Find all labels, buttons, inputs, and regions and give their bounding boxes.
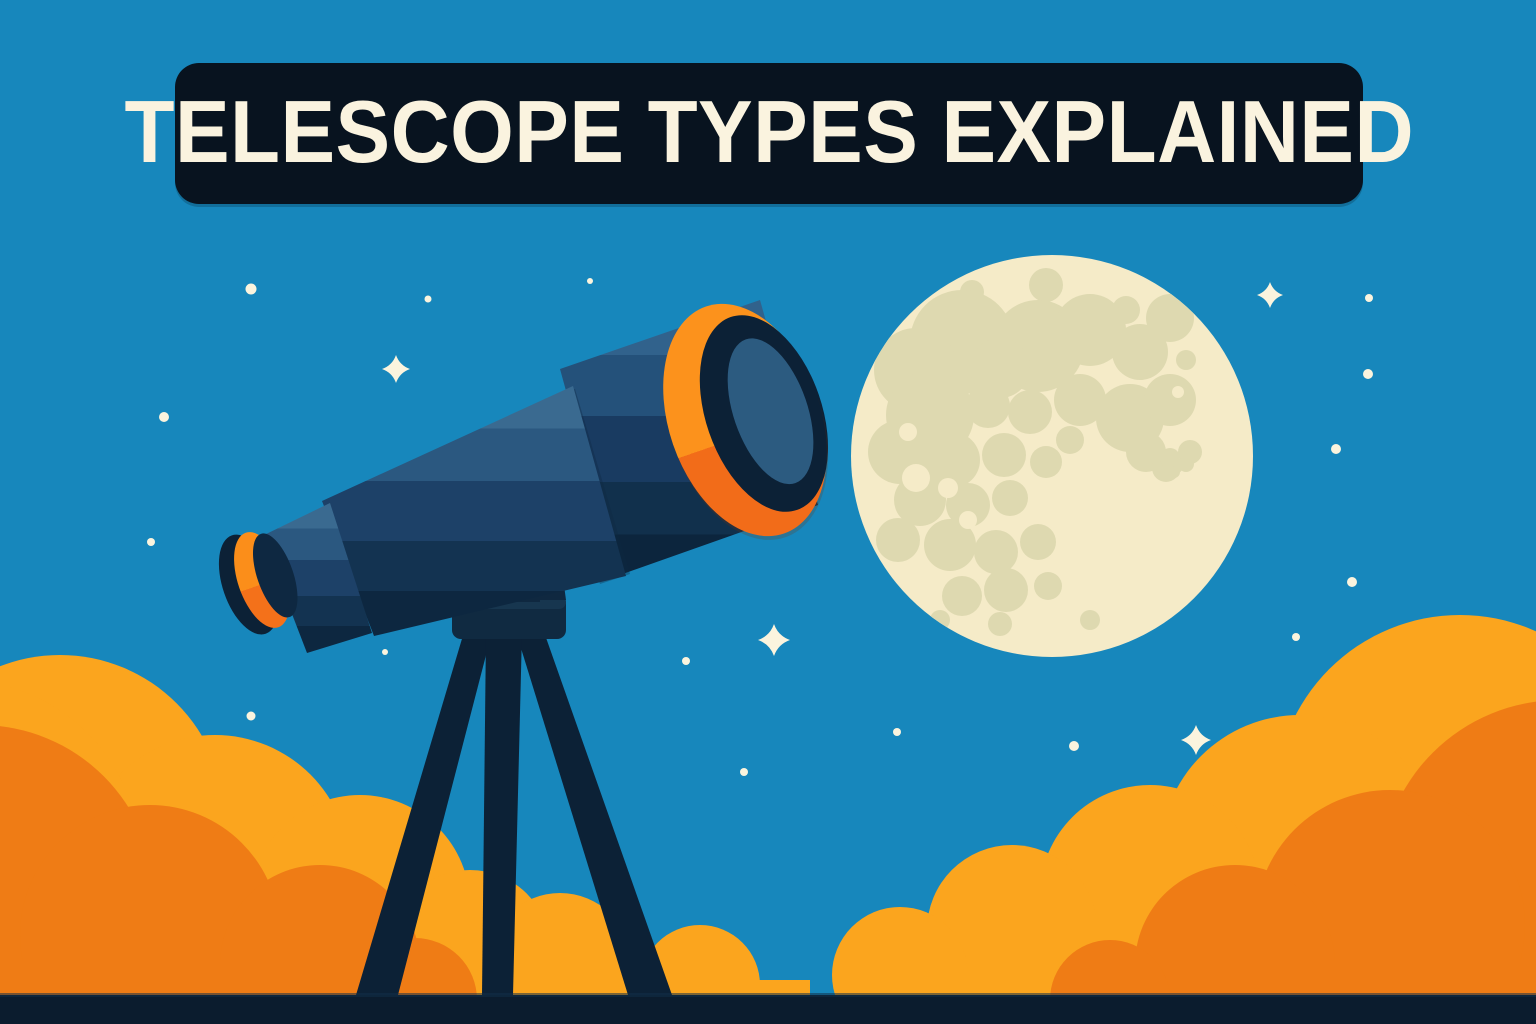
moon-crater [1008,390,1052,434]
moon-crater [876,518,920,562]
moon-crater [1080,610,1100,630]
star-dot [587,278,593,284]
moon-crater-highlight [1110,588,1130,608]
moon-crater [1034,572,1062,600]
moon-crater [982,433,1026,477]
star-dot [147,538,155,546]
moon-crater [1056,426,1084,454]
moon-crater [1030,446,1062,478]
star-dot [1292,633,1300,641]
page-title: TELESCOPE TYPES EXPLAINED [124,88,1414,176]
star-dot [382,649,388,655]
moon-crater [1029,268,1063,302]
moon-crater-highlight [899,423,917,441]
moon-crater [992,480,1028,516]
star-dot [246,284,257,295]
star-dot [1365,294,1373,302]
moon-crater [1160,448,1180,468]
poster-canvas: TELESCOPE TYPES EXPLAINED [0,0,1536,1024]
star-dot [425,296,432,303]
ground-strip [0,995,1536,1024]
title-banner: TELESCOPE TYPES EXPLAINED [175,63,1363,204]
star-dot [1069,741,1079,751]
moon-crater [1112,324,1168,380]
star-dot [247,712,256,721]
star-dot [1331,444,1341,454]
star-dot [740,768,748,776]
ground-highlight-line [0,993,1536,997]
moon-crater-highlight [902,464,930,492]
star-dot [682,657,690,665]
moon-crater [1144,374,1196,426]
moon-crater-highlight [1072,574,1100,602]
moon [851,255,1253,657]
moon-crater [984,568,1028,612]
moon-crater [1176,350,1196,370]
moon-crater [1006,352,1030,376]
star-dot [1363,369,1373,379]
moon-crater-highlight [959,511,977,529]
star-dot [893,728,901,736]
moon-crater [974,530,1018,574]
moon-crater [988,612,1012,636]
star-dot [1347,577,1357,587]
moon-crater [966,384,1010,428]
moon-crater [1020,524,1056,560]
moon-crater-highlight [938,478,958,498]
star-dot [159,412,169,422]
moon-crater [1178,456,1194,472]
moon-crater [942,576,982,616]
moon-crater-highlight [1172,386,1184,398]
moon-crater [1168,466,1180,478]
